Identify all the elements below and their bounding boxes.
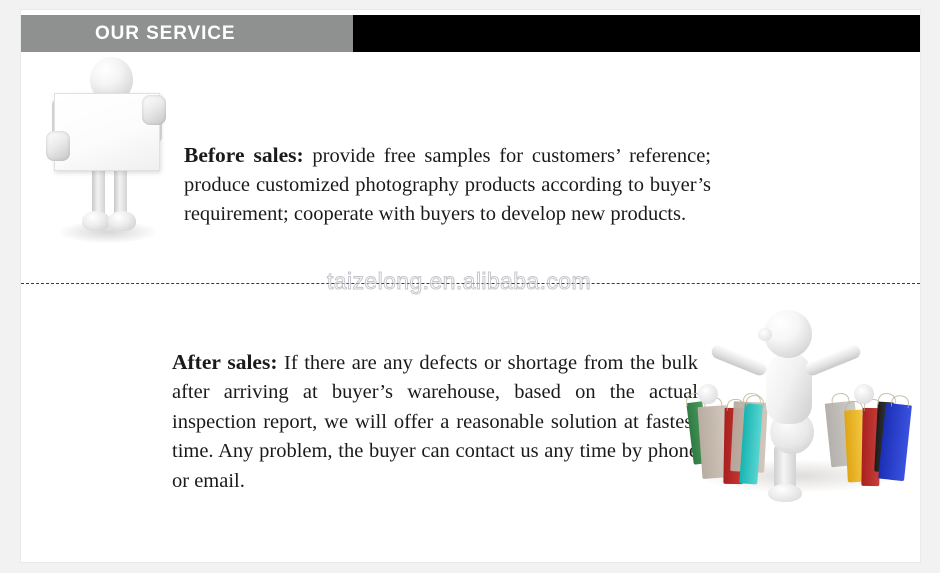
header-right-block — [353, 15, 920, 52]
shopper-hand-left — [698, 384, 718, 404]
shopper-arm-right — [803, 343, 862, 378]
mannequin-shopping-illustration — [682, 302, 918, 507]
figure-hand-left — [46, 131, 70, 161]
page-title: OUR SERVICE — [95, 23, 235, 45]
shopper-hand-right — [854, 384, 874, 404]
mannequin-holding-sign-illustration — [38, 55, 178, 250]
shopper-foot — [768, 484, 802, 502]
before-sales-paragraph: Before sales: provide free samples for c… — [184, 141, 711, 229]
header-left-block: OUR SERVICE — [21, 15, 353, 52]
shopper-nose — [758, 328, 772, 341]
section-divider — [21, 283, 920, 284]
after-sales-paragraph: After sales: If there are any defects or… — [172, 348, 698, 497]
page-root: OUR SERVICE Before sales: provide free s… — [0, 0, 940, 573]
before-sales-label: Before sales: — [184, 143, 304, 167]
figure-foot-right — [108, 211, 136, 231]
shopper-torso — [766, 352, 812, 424]
figure-foot-left — [82, 211, 110, 231]
section-header-bar: OUR SERVICE — [21, 15, 920, 52]
shopper-arm-left — [710, 343, 769, 378]
after-sales-label: After sales: — [172, 350, 278, 374]
figure-hand-right — [142, 95, 166, 125]
